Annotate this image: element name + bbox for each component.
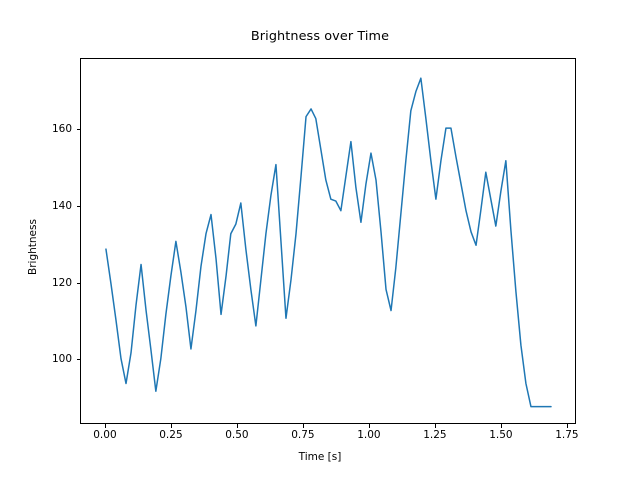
x-axis-label: Time [s] [0, 451, 640, 463]
x-tick-mark [501, 424, 502, 428]
x-tick-label: 1.25 [423, 429, 446, 441]
x-tick-mark [567, 424, 568, 428]
x-tick-label: 0.50 [225, 429, 248, 441]
y-tick-mark [77, 283, 81, 284]
plot-axes [80, 58, 576, 424]
y-axis-label: Brightness [27, 147, 39, 347]
x-tick-label: 0.75 [291, 429, 314, 441]
x-tick-label: 1.75 [555, 429, 578, 441]
x-tick-mark [369, 424, 370, 428]
y-tick-label: 160 [40, 123, 72, 135]
x-tick-mark [435, 424, 436, 428]
y-tick-mark [77, 206, 81, 207]
y-tick-label: 120 [40, 277, 72, 289]
x-tick-label: 0.25 [159, 429, 182, 441]
x-tick-mark [171, 424, 172, 428]
brightness-line-series [106, 78, 551, 406]
matplotlib-figure: Brightness over Time 0.000.250.500.751.0… [0, 0, 640, 480]
line-plot-svg [81, 59, 577, 425]
y-tick-label: 140 [40, 200, 72, 212]
chart-title: Brightness over Time [0, 29, 640, 44]
y-tick-label: 100 [40, 353, 72, 365]
y-tick-mark [77, 129, 81, 130]
y-tick-mark [77, 359, 81, 360]
x-tick-label: 0.00 [93, 429, 116, 441]
x-tick-mark [105, 424, 106, 428]
x-tick-label: 1.50 [489, 429, 512, 441]
x-tick-mark [303, 424, 304, 428]
x-tick-label: 1.00 [357, 429, 380, 441]
x-tick-mark [237, 424, 238, 428]
